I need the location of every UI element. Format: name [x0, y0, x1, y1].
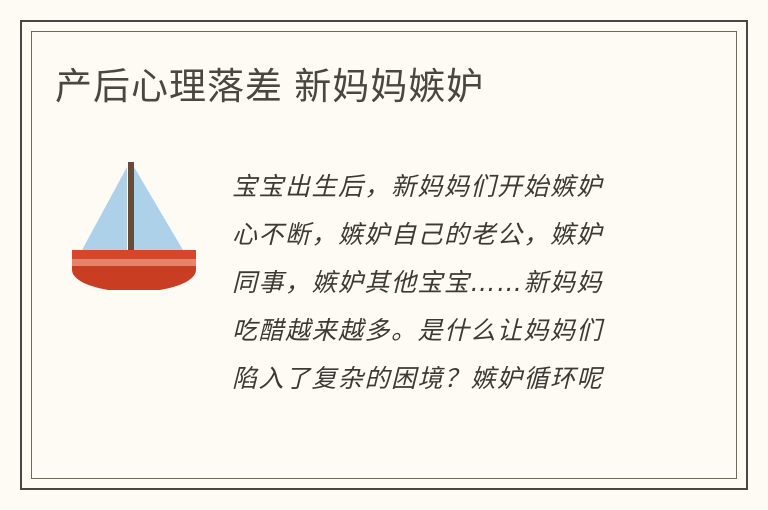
article-body: 宝宝出生后，新妈妈们开始嫉妒 心不断，嫉妒自己的老公，嫉妒 同事，嫉妒其他宝宝……	[232, 163, 648, 403]
card-content: 产后心理落差 新妈妈嫉妒 宝宝出生后，新妈妈们开始嫉妒 心不断，嫉妒自己的老公，…	[0, 0, 768, 510]
page-title: 产后心理落差 新妈妈嫉妒	[55, 64, 484, 110]
left-sail-shape	[82, 167, 127, 250]
hull-stripe	[72, 259, 196, 266]
sailboat-icon	[64, 155, 204, 290]
body-line: 陷入了复杂的困境？嫉妒循环呢	[232, 355, 648, 403]
article-card: 产后心理落差 新妈妈嫉妒 宝宝出生后，新妈妈们开始嫉妒 心不断，嫉妒自己的老公，…	[0, 0, 768, 510]
body-line: 同事，嫉妒其他宝宝……新妈妈	[232, 259, 648, 307]
body-line: 心不断，嫉妒自己的老公，嫉妒	[232, 211, 648, 259]
sailboat-illustration	[64, 155, 204, 290]
body-line: 吃醋越来越多。是什么让妈妈们	[232, 307, 648, 355]
hull-top-band	[72, 250, 196, 259]
right-sail-shape	[134, 167, 183, 250]
hull-shape	[72, 266, 196, 290]
body-line: 宝宝出生后，新妈妈们开始嫉妒	[232, 163, 648, 211]
mast-shape	[128, 162, 134, 252]
